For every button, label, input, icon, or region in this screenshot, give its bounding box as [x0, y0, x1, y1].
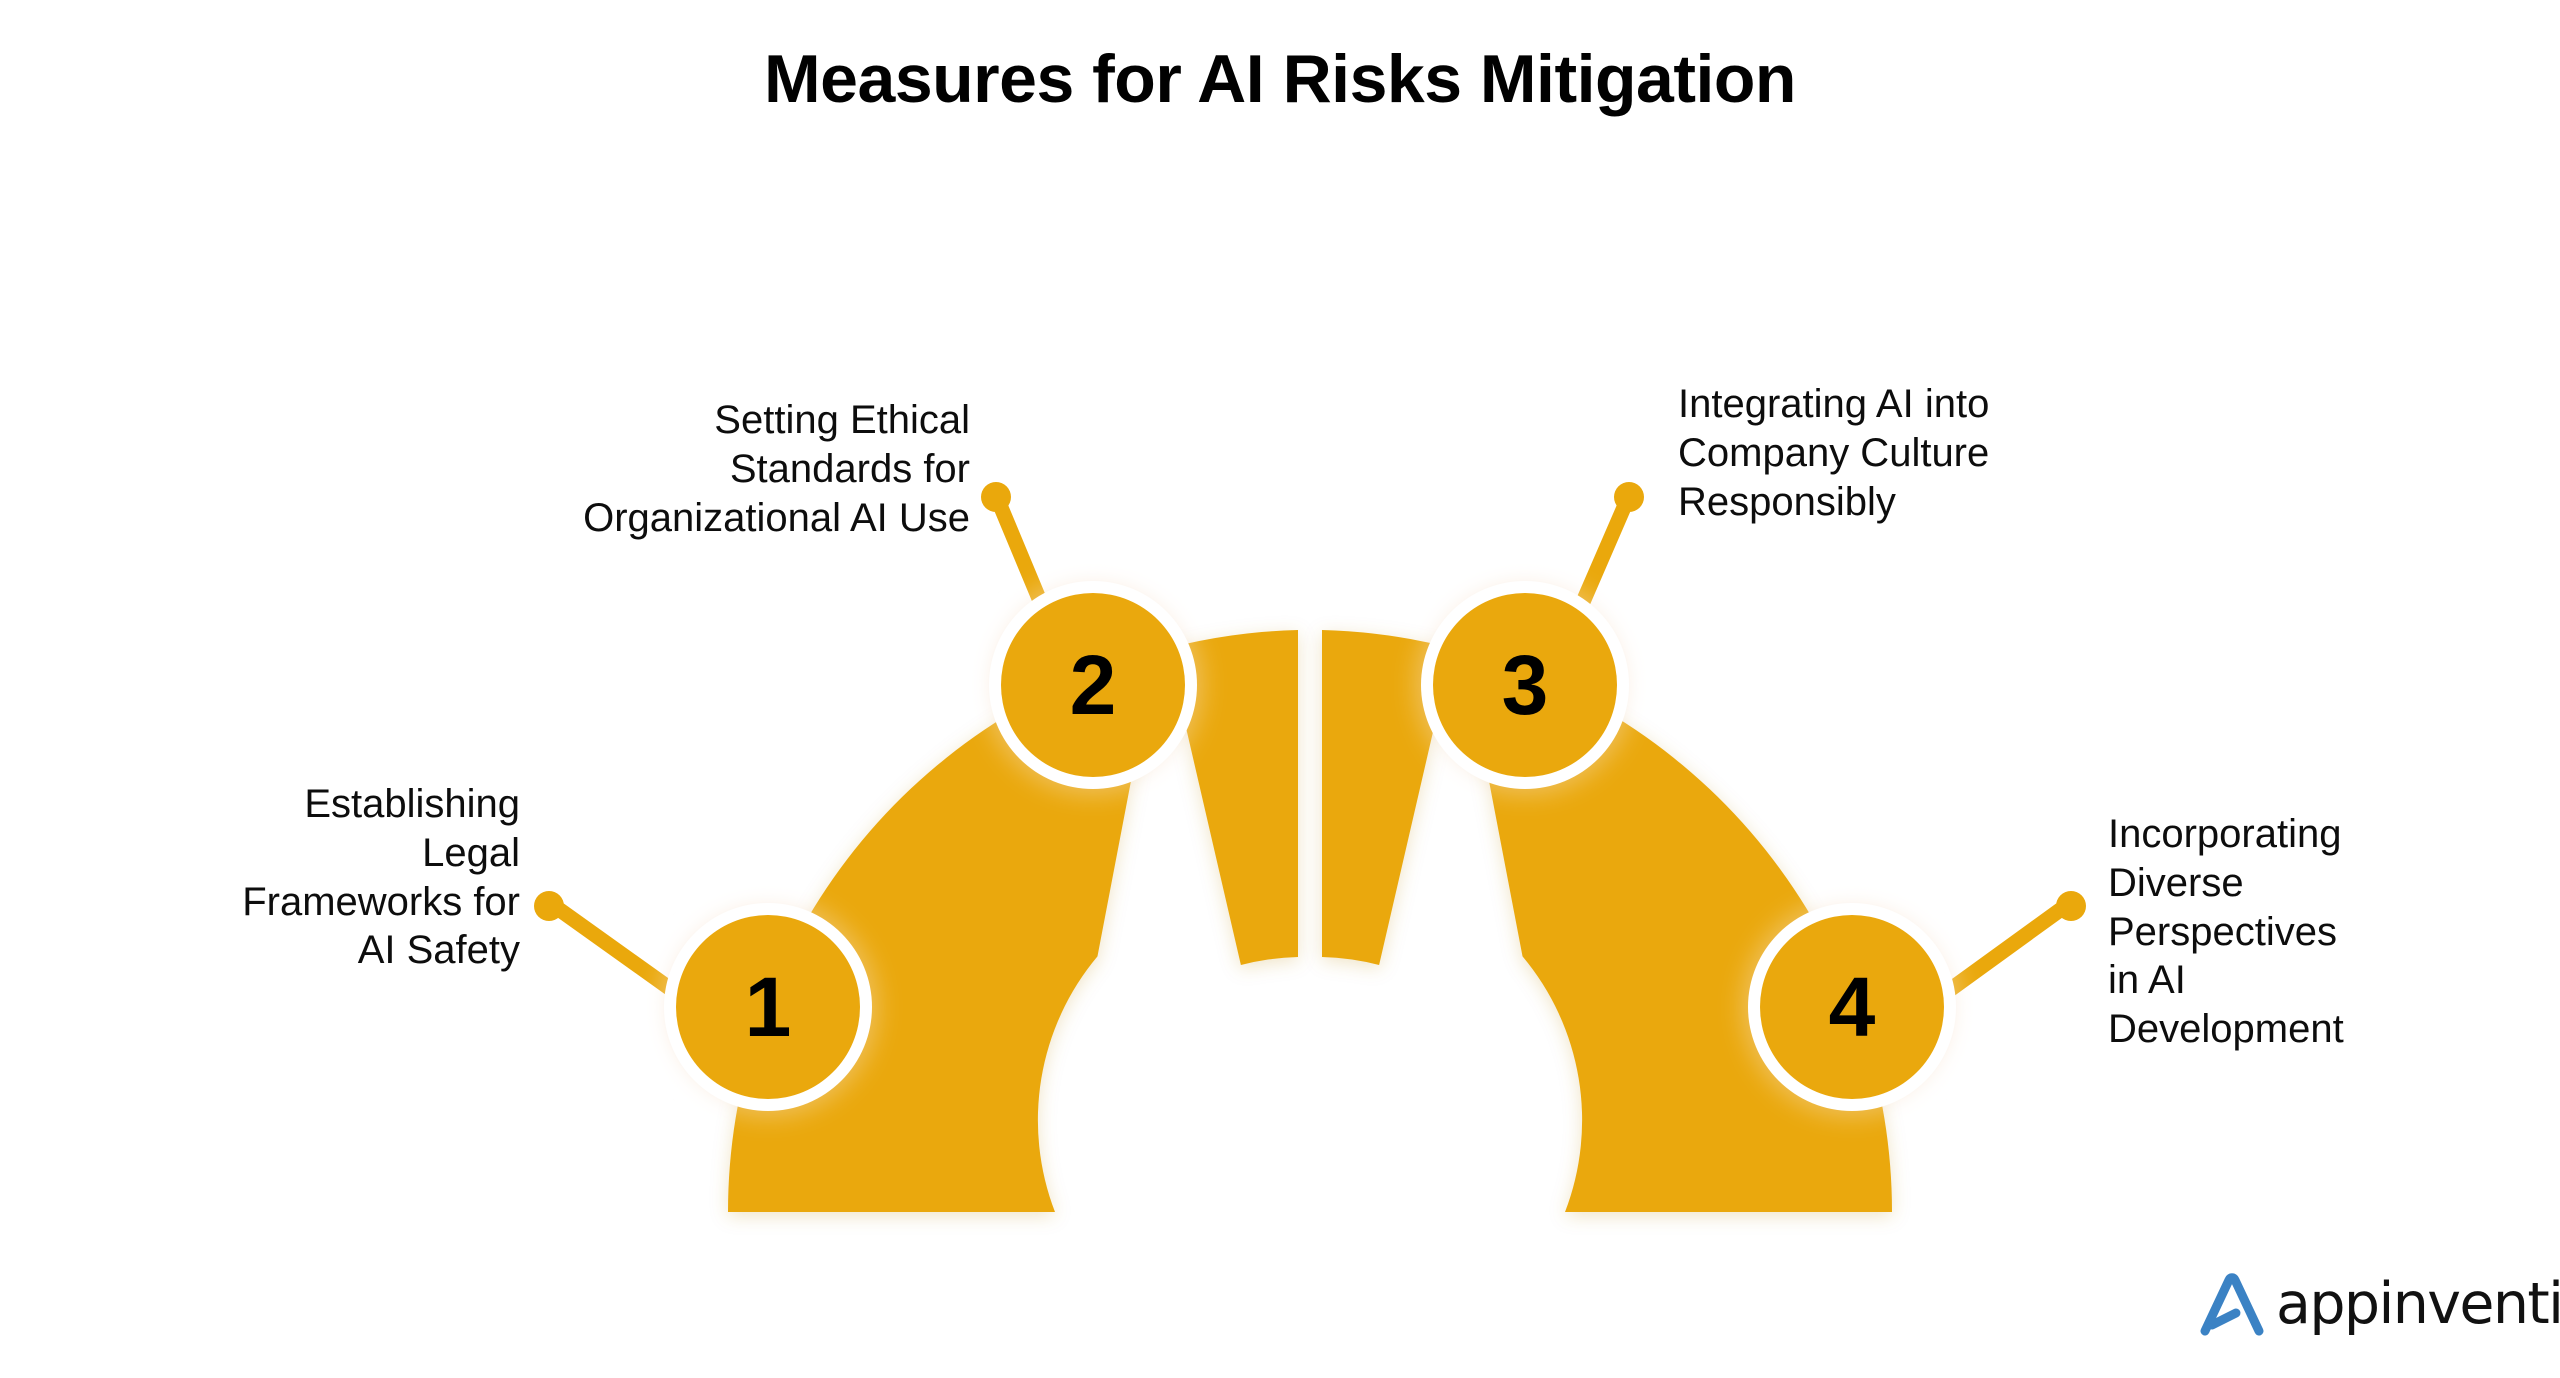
- step-label-1: Establishing Legal Frameworks for AI Saf…: [40, 780, 520, 975]
- appinventiv-wordmark: appinventiv: [2276, 1276, 2560, 1333]
- step-badge-number-2: 2: [1070, 638, 1117, 732]
- step-badge-3[interactable]: 3: [1421, 581, 1629, 789]
- step-label-3: Integrating AI into Company Culture Resp…: [1678, 380, 2298, 526]
- appinventiv-a-mark-icon: [2196, 1268, 2268, 1340]
- connector-dot-3: [1614, 482, 1644, 512]
- connector-dot-2: [981, 482, 1011, 512]
- step-label-2: Setting Ethical Standards for Organizati…: [290, 396, 970, 542]
- step-badge-number-1: 1: [745, 960, 792, 1054]
- connector-dot-4: [2056, 891, 2086, 921]
- appinventiv-logo[interactable]: appinventiv: [2196, 1268, 2560, 1340]
- step-badge-number-3: 3: [1502, 638, 1549, 732]
- semicircle-donut-diagram: 1 2 3 4: [0, 0, 2560, 1378]
- step-badge-2[interactable]: 2: [989, 581, 1197, 789]
- step-label-4: Incorporating Diverse Perspectives in AI…: [2108, 810, 2528, 1054]
- step-badge-4[interactable]: 4: [1748, 903, 1956, 1111]
- infographic-canvas: Measures for AI Risks Mitigation: [0, 0, 2560, 1378]
- step-badge-number-4: 4: [1829, 960, 1876, 1054]
- connector-dot-1: [534, 891, 564, 921]
- step-badge-1[interactable]: 1: [664, 903, 872, 1111]
